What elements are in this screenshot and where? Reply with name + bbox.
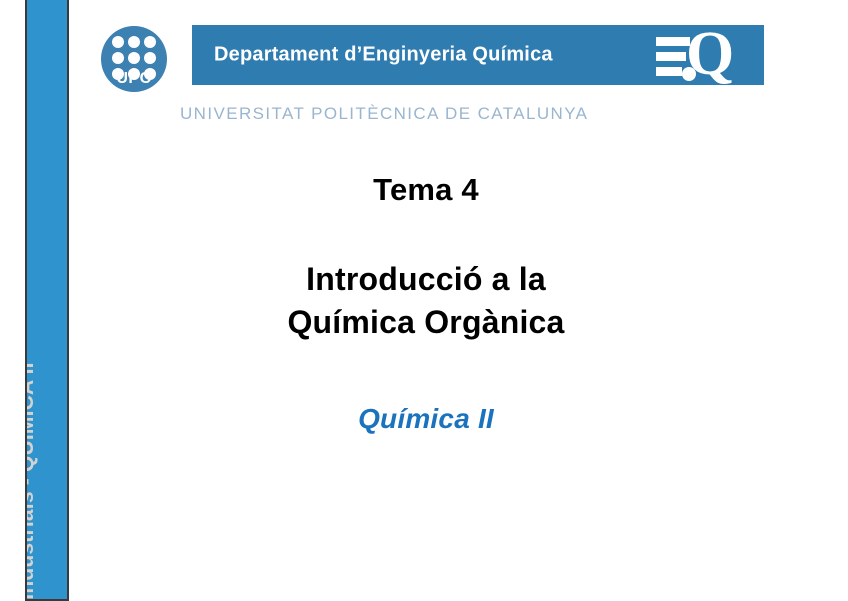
- title-block: Tema 4 Introducció a la Química Orgànica…: [70, 170, 782, 437]
- upc-dot: [112, 36, 124, 48]
- upc-dot: [144, 36, 156, 48]
- department-bar: Departament d’Enginyeria Química Q: [192, 25, 764, 85]
- upc-dot: [128, 52, 140, 64]
- slide-title: Introducció a la Química Orgànica: [70, 258, 782, 344]
- upc-acronym: UPC: [101, 71, 167, 87]
- slide-title-line-1: Introducció a la: [70, 258, 782, 301]
- upc-logo: UPC: [101, 26, 167, 92]
- upc-dot: [128, 36, 140, 48]
- course-sidebar-label: Grau en Tecnologies Industrials - QUIMIC…: [25, 362, 47, 601]
- slide-title-line-2: Química Orgànica: [70, 301, 782, 344]
- eq-bar: [656, 52, 686, 61]
- course-subtitle: Química II: [70, 401, 782, 437]
- department-title: Departament d’Enginyeria Química: [214, 44, 553, 67]
- eq-logo-icon: Q: [656, 33, 746, 79]
- eq-dot-icon: [682, 67, 696, 81]
- topic-label: Tema 4: [70, 170, 782, 210]
- slide-header: UPC Departament d’Enginyeria Química Q U…: [0, 0, 848, 140]
- university-subtitle: UNIVERSITAT POLITÈCNICA DE CATALUNYA: [180, 104, 588, 124]
- eq-bar: [656, 67, 682, 76]
- upc-dot: [144, 52, 156, 64]
- eq-bar: [656, 37, 690, 46]
- upc-dot: [112, 52, 124, 64]
- slide-canvas: Grau en Tecnologies Industrials - QUIMIC…: [0, 0, 848, 599]
